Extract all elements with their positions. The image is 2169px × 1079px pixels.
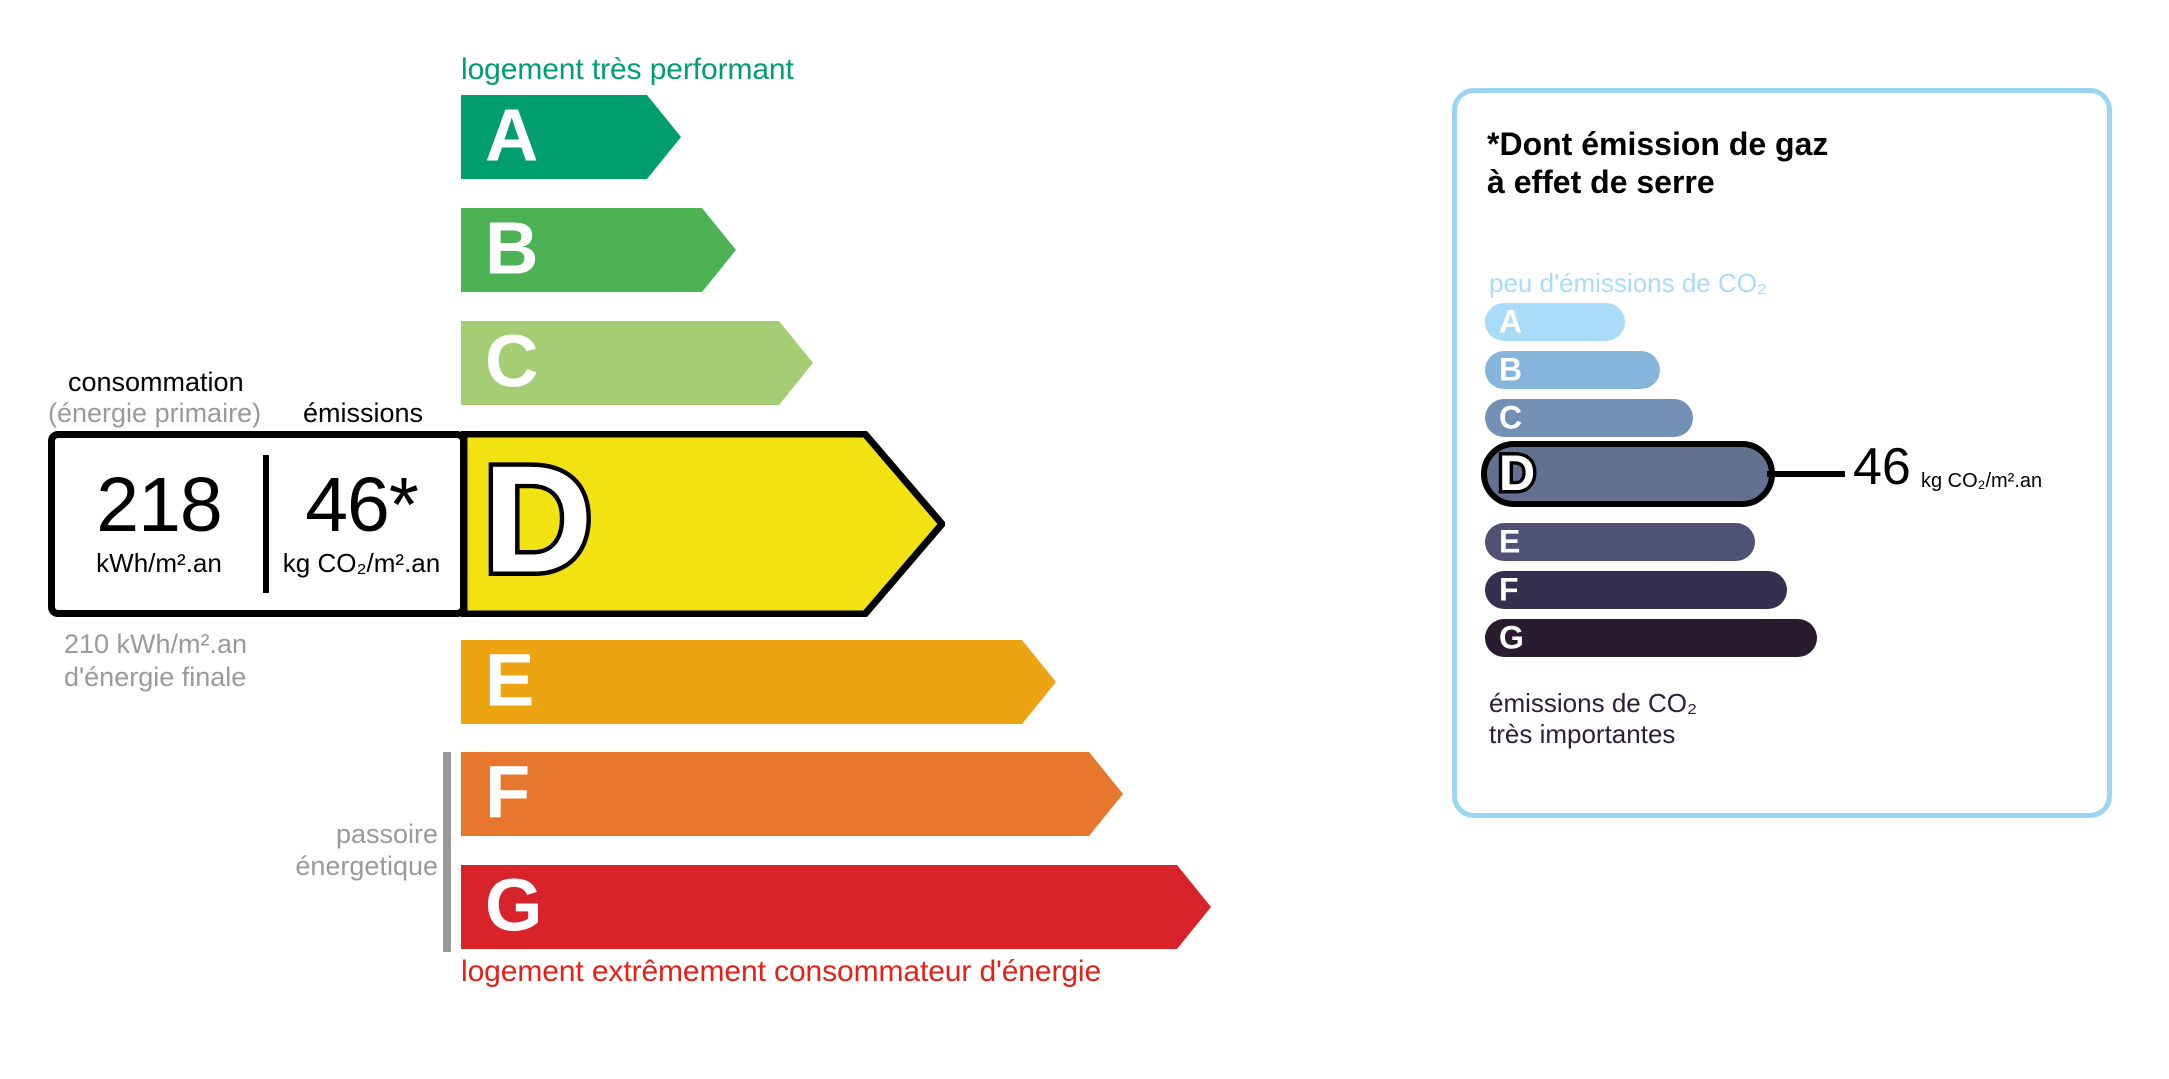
energy-class-letter-d: D xyxy=(483,443,593,595)
energy-class-row-e[interactable]: E xyxy=(461,640,1056,724)
value-box-divider xyxy=(263,455,269,593)
co2-callout-unit: kg CO₂/m².an xyxy=(1921,470,2042,493)
co2-title-line-1: *Dont émission de gaz xyxy=(1487,125,1828,163)
co2-class-row-b[interactable]: B xyxy=(1485,351,1660,389)
co2-class-row-d-selected[interactable]: D D xyxy=(1481,441,1775,507)
final-energy-line-1: 210 kWh/m².an xyxy=(64,628,247,661)
co2-panel-title: *Dont émission de gaz à effet de serre xyxy=(1487,125,1828,202)
co2-bottom-line-1: émissions de CO₂ xyxy=(1489,688,1697,719)
co2-callout-leader-line xyxy=(1767,471,1845,477)
consumption-value: 218 xyxy=(96,469,221,542)
energy-class-letter-b: B xyxy=(485,212,538,286)
passoire-line-1: passoire xyxy=(268,818,438,850)
energy-class-letter-e: E xyxy=(485,644,534,718)
energy-class-row-a[interactable]: A xyxy=(461,95,681,179)
consumption-unit: kWh/m².an xyxy=(96,548,222,579)
energy-performance-diagram: logement très performant A B C D D E xyxy=(0,0,1400,1079)
emissions-value: 46* xyxy=(305,469,418,542)
co2-emissions-panel: *Dont émission de gaz à effet de serre p… xyxy=(1452,88,2112,818)
energy-class-letter-f: F xyxy=(485,756,530,830)
energy-class-letter-c: C xyxy=(485,325,538,399)
co2-class-letter-g: G xyxy=(1499,621,1524,653)
co2-class-letter-a: A xyxy=(1499,305,1522,337)
emissions-label: émissions xyxy=(303,398,423,429)
energy-class-letter-a: A xyxy=(485,99,538,173)
arrow-shape-g xyxy=(461,865,1211,949)
consumption-sublabel: (énergie primaire) xyxy=(48,398,261,429)
co2-class-row-e[interactable]: E xyxy=(1485,523,1755,561)
emissions-unit: kg CO₂/m².an xyxy=(283,548,440,579)
final-energy-note: 210 kWh/m².an d'énergie finale xyxy=(64,628,247,695)
top-caption-very-efficient: logement très performant xyxy=(461,53,794,87)
co2-bottom-caption: émissions de CO₂ très importantes xyxy=(1489,688,1697,750)
co2-class-row-f[interactable]: F xyxy=(1485,571,1787,609)
consumption-value-cell: 218 kWh/m².an xyxy=(55,438,263,610)
arrow-shape-f xyxy=(461,752,1123,836)
co2-bar-e xyxy=(1485,523,1755,561)
co2-class-row-c[interactable]: C xyxy=(1485,399,1693,437)
co2-class-letter-b: B xyxy=(1499,353,1522,385)
final-energy-line-2: d'énergie finale xyxy=(64,661,247,694)
passoire-energetique-bracket xyxy=(443,752,451,952)
passoire-line-2: énergetique xyxy=(268,850,438,882)
co2-title-line-2: à effet de serre xyxy=(1487,163,1828,201)
co2-class-row-a[interactable]: A xyxy=(1485,303,1625,341)
consumption-label: consommation xyxy=(68,367,244,398)
co2-class-letter-d: D xyxy=(1499,448,1535,498)
co2-bar-f xyxy=(1485,571,1787,609)
co2-class-letter-e: E xyxy=(1499,525,1520,557)
co2-callout-value: 46 xyxy=(1853,441,1911,493)
bottom-caption-very-consuming: logement extrêmement consommateur d'éner… xyxy=(461,955,1101,989)
co2-class-row-g[interactable]: G xyxy=(1485,619,1817,657)
co2-class-letter-c: C xyxy=(1499,401,1522,433)
energy-class-row-g[interactable]: G xyxy=(461,865,1211,949)
value-box: 218 kWh/m².an 46* kg CO₂/m².an xyxy=(48,431,467,617)
co2-bottom-line-2: très importantes xyxy=(1489,719,1697,750)
energy-class-row-d-selected[interactable]: D D xyxy=(461,431,945,617)
energy-class-row-f[interactable]: F xyxy=(461,752,1123,836)
energy-class-letter-g: G xyxy=(485,869,543,943)
co2-bar-g xyxy=(1485,619,1817,657)
emissions-value-cell: 46* kg CO₂/m².an xyxy=(263,438,460,610)
co2-class-letter-f: F xyxy=(1499,573,1519,605)
passoire-energetique-label: passoire énergetique xyxy=(268,818,438,883)
co2-top-caption: peu d'émissions de CO₂ xyxy=(1489,268,1767,299)
energy-class-row-c[interactable]: C xyxy=(461,321,813,405)
arrow-shape-e xyxy=(461,640,1056,724)
energy-class-row-b[interactable]: B xyxy=(461,208,736,292)
